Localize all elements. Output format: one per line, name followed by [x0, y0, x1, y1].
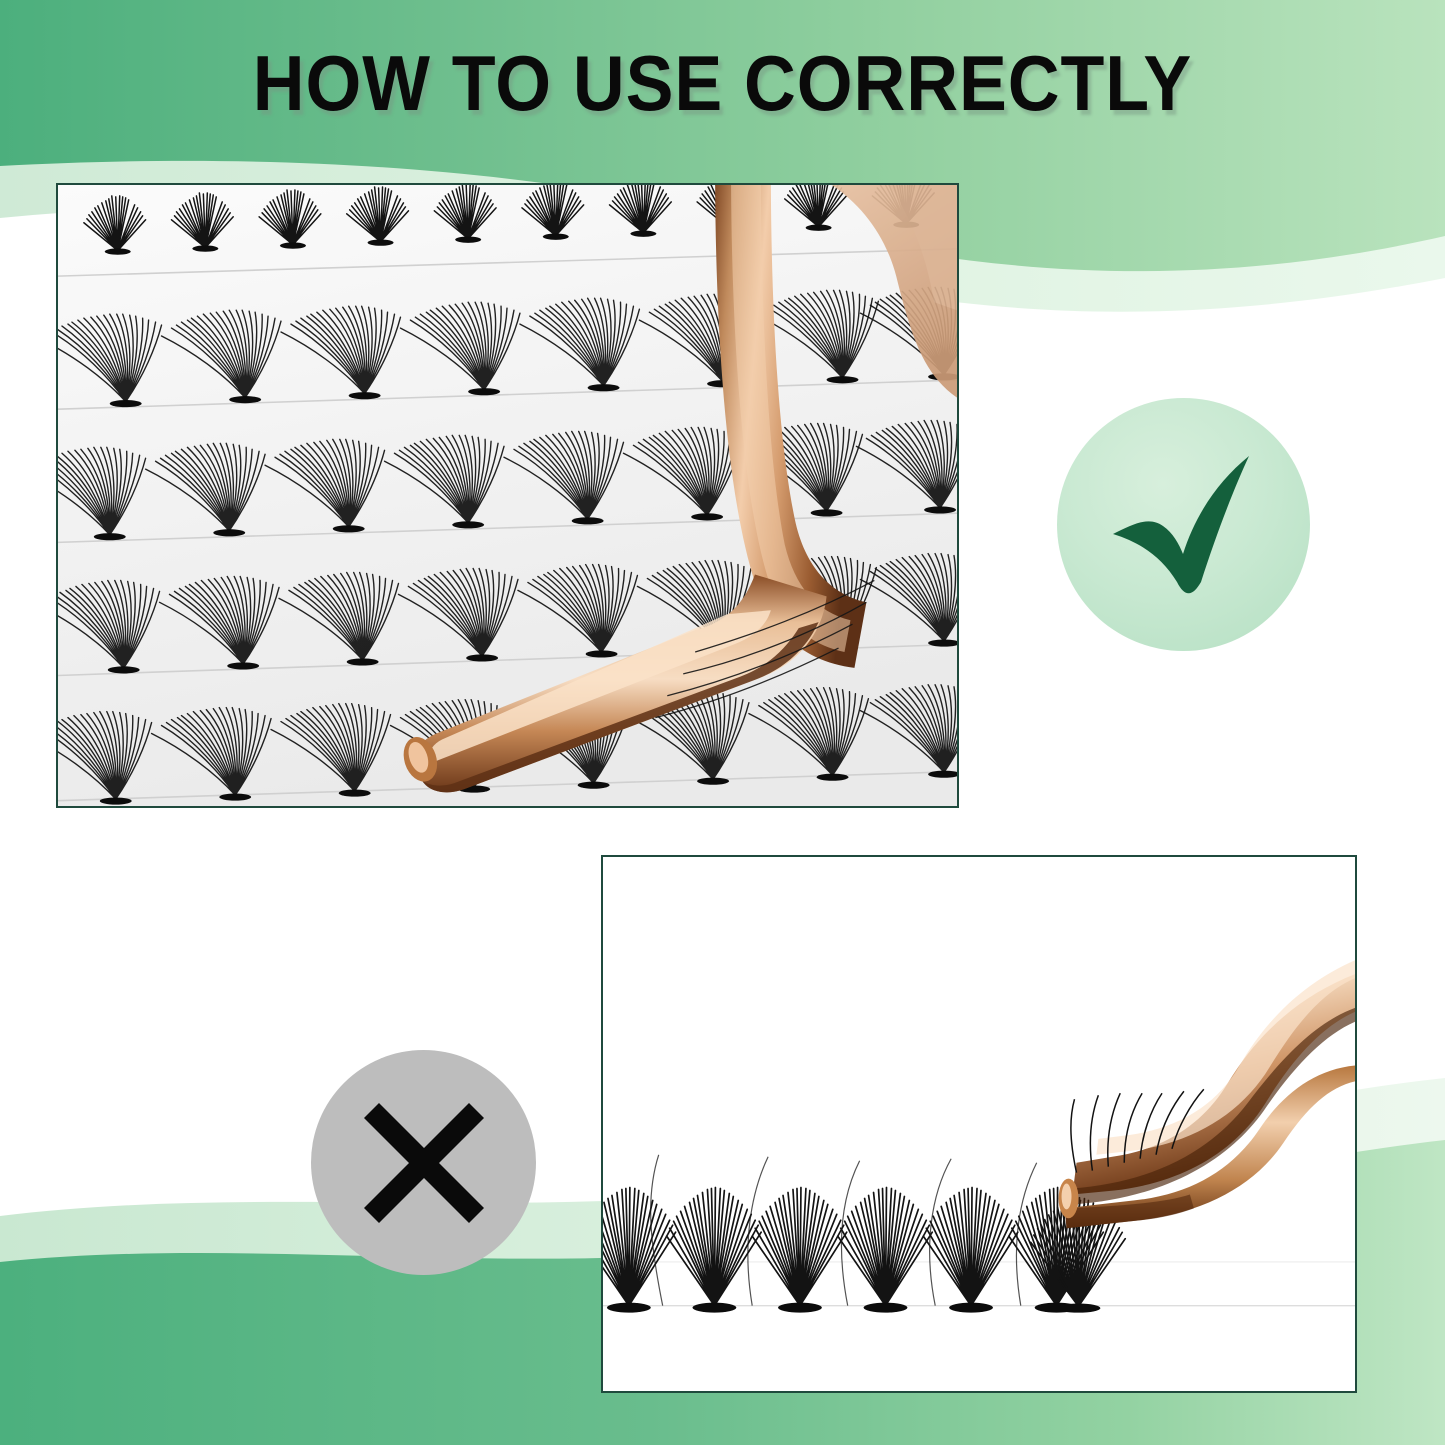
- infographic-canvas: HOW TO USE CORRECTLY: [0, 0, 1445, 1445]
- close-icon: [354, 1093, 494, 1233]
- check-badge: [1057, 398, 1310, 651]
- page-title: HOW TO USE CORRECTLY: [58, 44, 1387, 122]
- cross-badge: [311, 1050, 536, 1275]
- check-icon: [1089, 430, 1279, 620]
- lash-row-side-view-with-tweezer-photo: [601, 855, 1357, 1393]
- lash-tray-with-tweezer-photo: [56, 183, 959, 808]
